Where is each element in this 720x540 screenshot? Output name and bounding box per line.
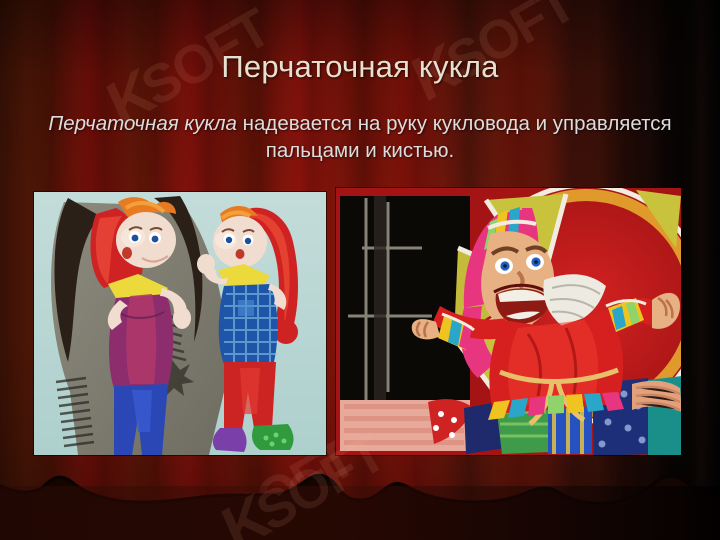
curtain-bottom-hem — [0, 460, 720, 540]
two-glove-puppets-photo — [34, 192, 326, 455]
slide-body-text: Перчаточная кукла надевается на руку кук… — [26, 110, 694, 164]
body-rest: надевается на руку кукловода и управляет… — [237, 112, 672, 162]
presentation-slide: KSOFT KSOFT KSOFT Перчаточная кукла Перч… — [0, 0, 720, 540]
slide-title: Перчаточная кукла — [0, 48, 720, 86]
curtain-hem-shape — [0, 460, 720, 540]
two-glove-puppets-illustration — [34, 192, 326, 455]
petrushka-puppet-illustration — [336, 188, 681, 455]
body-emphasis: Перчаточная кукла — [48, 112, 237, 135]
petrushka-puppet-photo — [336, 188, 681, 455]
